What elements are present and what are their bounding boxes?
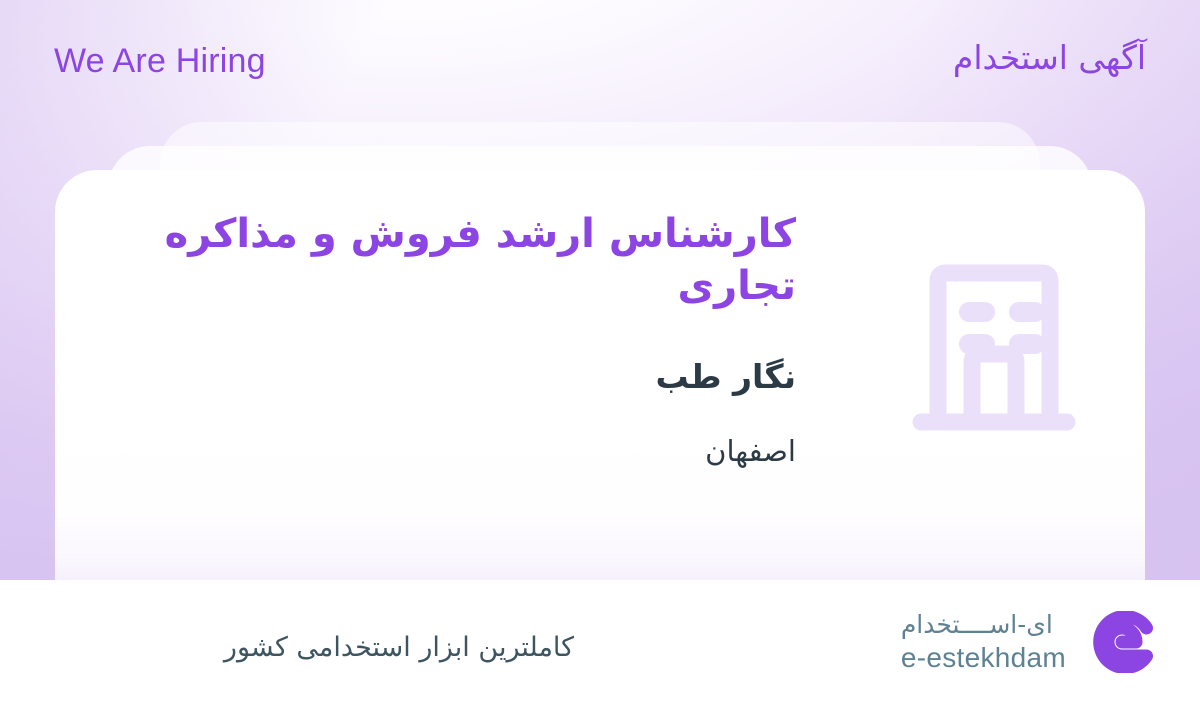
building-icon (912, 240, 1076, 440)
job-ad-banner: کارشناس ارشد فروش و مذاکره تجاری نگار طب… (0, 0, 1200, 705)
hiring-label-fa: آگهی استخدام (953, 38, 1146, 77)
e-logo-icon (1082, 611, 1156, 673)
company-logo-slot (843, 170, 1145, 500)
brand-name-fa: ای-اســــتخدام (901, 612, 1053, 637)
brand-name-en: e-estekhdam (901, 644, 1066, 672)
footer: کاملترین ابزار استخدامی کشور ای-اســــتخ… (0, 580, 1200, 705)
job-details: کارشناس ارشد فروش و مذاکره تجاری نگار طب… (55, 170, 843, 468)
job-title: کارشناس ارشد فروش و مذاکره تجاری (55, 208, 796, 312)
job-location: اصفهان (55, 434, 796, 469)
hiring-label-en: We Are Hiring (54, 42, 266, 81)
brand-wordmark: ای-اســــتخدام e-estekhdam (901, 612, 1066, 672)
hero-section: کارشناس ارشد فروش و مذاکره تجاری نگار طب… (0, 0, 1200, 580)
brand-logo[interactable]: ای-اســــتخدام e-estekhdam (901, 611, 1156, 673)
company-name: نگار طب (55, 357, 796, 397)
job-card-content: کارشناس ارشد فروش و مذاکره تجاری نگار طب… (55, 170, 1145, 580)
footer-tagline: کاملترین ابزار استخدامی کشور (54, 632, 574, 663)
hero-header: We Are Hiring آگهی استخدام (0, 0, 1200, 120)
